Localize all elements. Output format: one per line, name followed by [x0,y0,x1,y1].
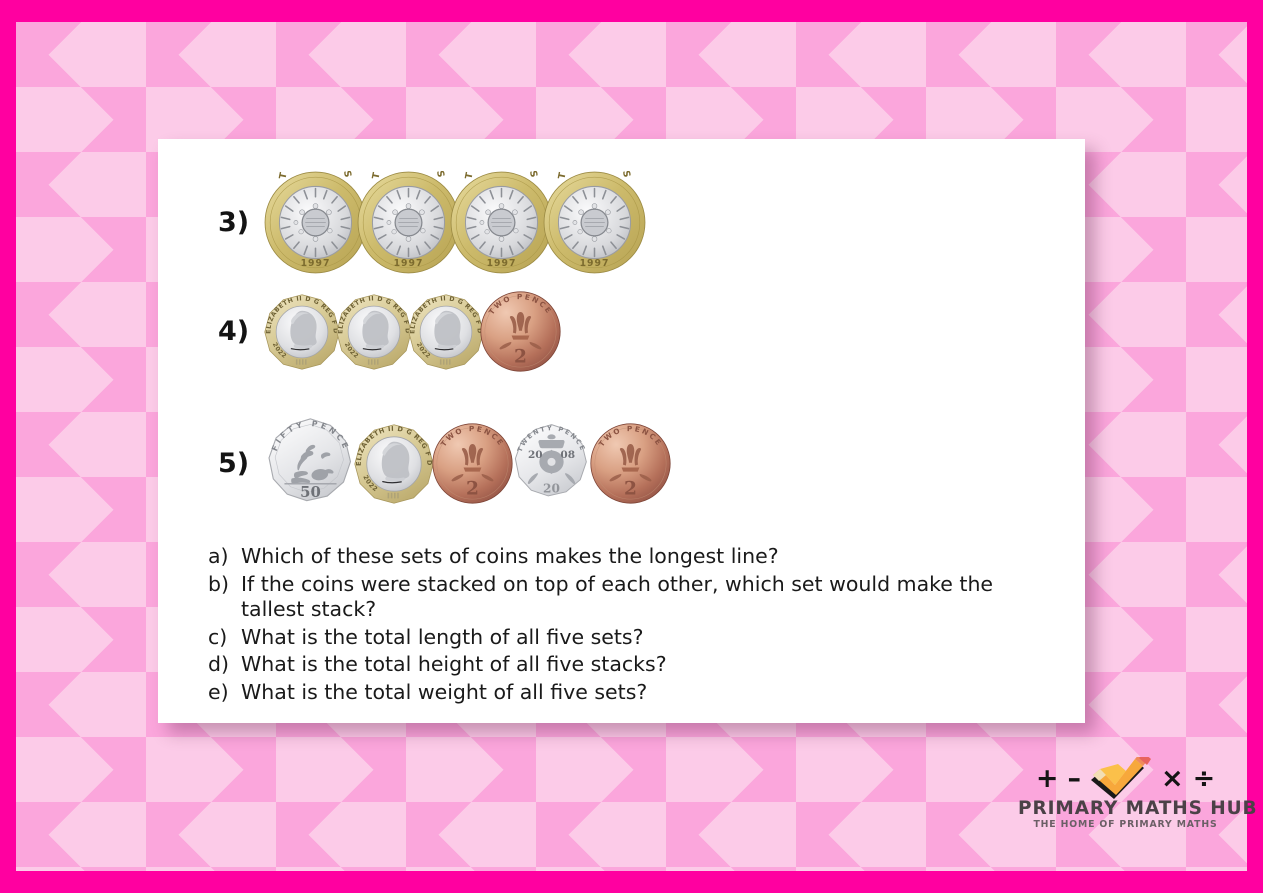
svg-text:2: 2 [466,478,479,499]
multiply-icon: × [1161,765,1184,792]
coin-two-pence: 2 TWO PENCE [432,423,513,504]
question-letter-d: d) [208,652,241,678]
question-letter-a: a) [208,544,241,570]
question-item-c: c) What is the total length of all five … [208,625,1048,651]
row-label-5: 5) [218,448,264,479]
slide: 3) [0,0,1263,893]
svg-text:20: 20 [543,482,560,496]
question-text-e: What is the total weight of all five set… [241,680,1048,706]
coin-two-pound: TWO POUNDS 1997 [357,171,460,274]
minus-icon: – [1067,765,1081,792]
coin-twenty-pence: 20 08 20 TWENTY PENCE [511,423,592,504]
coin-two-pound: TWO POUNDS 1997 [543,171,646,274]
question-text-c: What is the total length of all five set… [241,625,1048,651]
question-letter-c: c) [208,625,241,651]
question-list: a) Which of these sets of coins makes th… [208,544,1048,707]
logo-symbol-row: + – × ÷ [1018,757,1233,799]
coin-one-pound: ELIZABETH II D G REG F D 2022 [354,424,434,504]
question-item-e: e) What is the total weight of all five … [208,680,1048,706]
question-text-d: What is the total height of all five sta… [241,652,1048,678]
coin-two-pence: 2 TWO PENCE [590,423,671,504]
question-letter-e: e) [208,680,241,706]
question-item-a: a) Which of these sets of coins makes th… [208,544,1048,570]
pencil-checkmark-icon [1090,757,1152,799]
coin-row-3: 3) [218,171,646,274]
svg-text:2: 2 [514,346,527,367]
svg-text:1997: 1997 [487,258,517,269]
logo-tagline: THE HOME OF PRIMARY MATHS [1018,819,1233,831]
coin-row-5: 5) [218,417,671,510]
svg-text:20: 20 [528,449,543,461]
svg-text:1997: 1997 [301,258,331,269]
coin-two-pound: TWO POUNDS 1997 [450,171,553,274]
coin-row-4: 4) [218,291,561,372]
svg-text:1997: 1997 [394,258,424,269]
question-letter-b: b) [208,572,241,598]
question-item-b: b) If the coins were stacked on top of e… [208,572,1048,623]
row-label-3: 3) [218,207,264,238]
svg-text:08: 08 [560,449,575,461]
logo-name: PRIMARY MATHS HUB [1018,799,1233,819]
coin-one-pound: ELIZABETH II D G REG F D 2022 [264,294,340,370]
coin-two-pound: TWO POUNDS 1997 [264,171,367,274]
coin-one-pound: ELIZABETH II D G REG F D 2022 [408,294,484,370]
svg-text:2: 2 [624,478,637,499]
content-card: 3) [158,139,1085,723]
coin-strip-4: ELIZABETH II D G REG F D 2022 [264,291,561,372]
coin-fifty-pence: 50 FIFTY PENCE [264,417,357,510]
row-label-4: 4) [218,316,264,347]
question-item-d: d) What is the total height of all five … [208,652,1048,678]
svg-text:1997: 1997 [580,258,610,269]
coin-strip-3: TWO POUNDS 1997 [264,171,646,274]
question-text-a: Which of these sets of coins makes the l… [241,544,1048,570]
primary-maths-hub-logo: + – × ÷ PRIMARY MATHS HUB THE HOME OF PR… [1018,757,1233,839]
plus-icon: + [1036,765,1059,792]
coin-one-pound: ELIZABETH II D G REG F D 2022 [336,294,412,370]
question-text-b: If the coins were stacked on top of each… [241,572,1048,623]
svg-text:50: 50 [300,483,321,501]
coin-two-pence: 2 TWO PENCE [480,291,561,372]
coin-strip-5: 50 FIFTY PENCE [264,417,671,510]
divide-icon: ÷ [1193,765,1216,792]
